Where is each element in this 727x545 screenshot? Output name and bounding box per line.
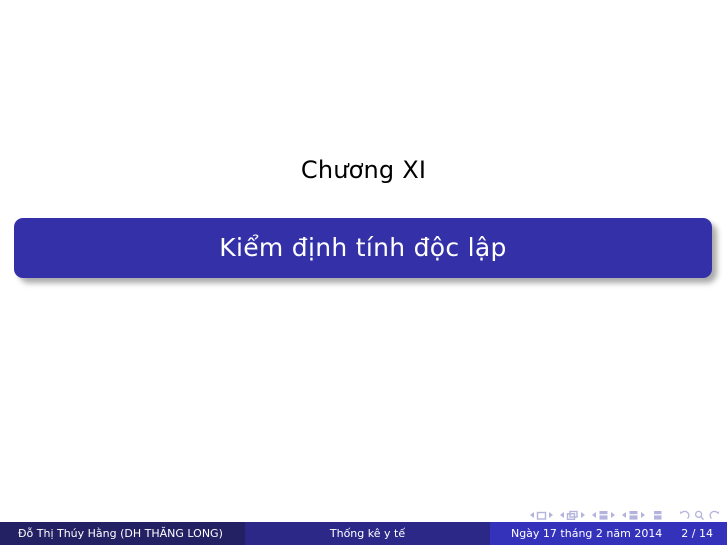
footer-page-number: 2 / 14 — [681, 522, 713, 545]
footer-subject: Thống kê y tế — [245, 522, 490, 545]
back-icon[interactable] — [678, 510, 690, 521]
next-subsection-icon[interactable] — [611, 512, 615, 518]
next-slide-icon[interactable] — [549, 512, 553, 518]
prev-section-icon[interactable] — [622, 512, 626, 518]
frame-navigation-group[interactable] — [560, 510, 585, 521]
next-frame-icon[interactable] — [581, 512, 585, 518]
section-icon[interactable] — [628, 510, 639, 521]
prev-subsection-icon[interactable] — [592, 512, 596, 518]
slide-navigation-group[interactable] — [530, 510, 553, 521]
footer-date: Ngày 17 tháng 2 năm 2014 — [506, 522, 667, 545]
beamer-navigation-bar[interactable] — [530, 507, 721, 523]
history-navigation-group[interactable] — [678, 510, 721, 521]
slide-icon[interactable] — [536, 510, 547, 521]
frame-icon[interactable] — [566, 510, 579, 521]
forward-icon[interactable] — [709, 510, 721, 521]
title-block: Kiểm định tính độc lập — [14, 218, 712, 278]
subsection-icon[interactable] — [598, 510, 609, 521]
footer-date-page: Ngày 17 tháng 2 năm 2014 2 / 14 — [490, 522, 727, 545]
next-section-icon[interactable] — [641, 512, 645, 518]
document-icon[interactable] — [652, 510, 663, 521]
footer-author: Đỗ Thị Thúy Hằng (DH THĂNG LONG) — [0, 522, 245, 545]
slide-footer: Đỗ Thị Thúy Hằng (DH THĂNG LONG) Thống k… — [0, 522, 727, 545]
presentation-slide: Chương XI Kiểm định tính độc lập — [0, 0, 727, 545]
prev-slide-icon[interactable] — [530, 512, 534, 518]
chapter-label: Chương XI — [0, 157, 727, 183]
search-icon[interactable] — [694, 510, 705, 521]
title-block-panel: Kiểm định tính độc lập — [14, 218, 712, 278]
subsection-navigation-group[interactable] — [592, 510, 615, 521]
document-navigation-group[interactable] — [652, 510, 663, 521]
slide-title: Kiểm định tính độc lập — [219, 234, 506, 263]
section-navigation-group[interactable] — [622, 510, 645, 521]
prev-frame-icon[interactable] — [560, 512, 564, 518]
